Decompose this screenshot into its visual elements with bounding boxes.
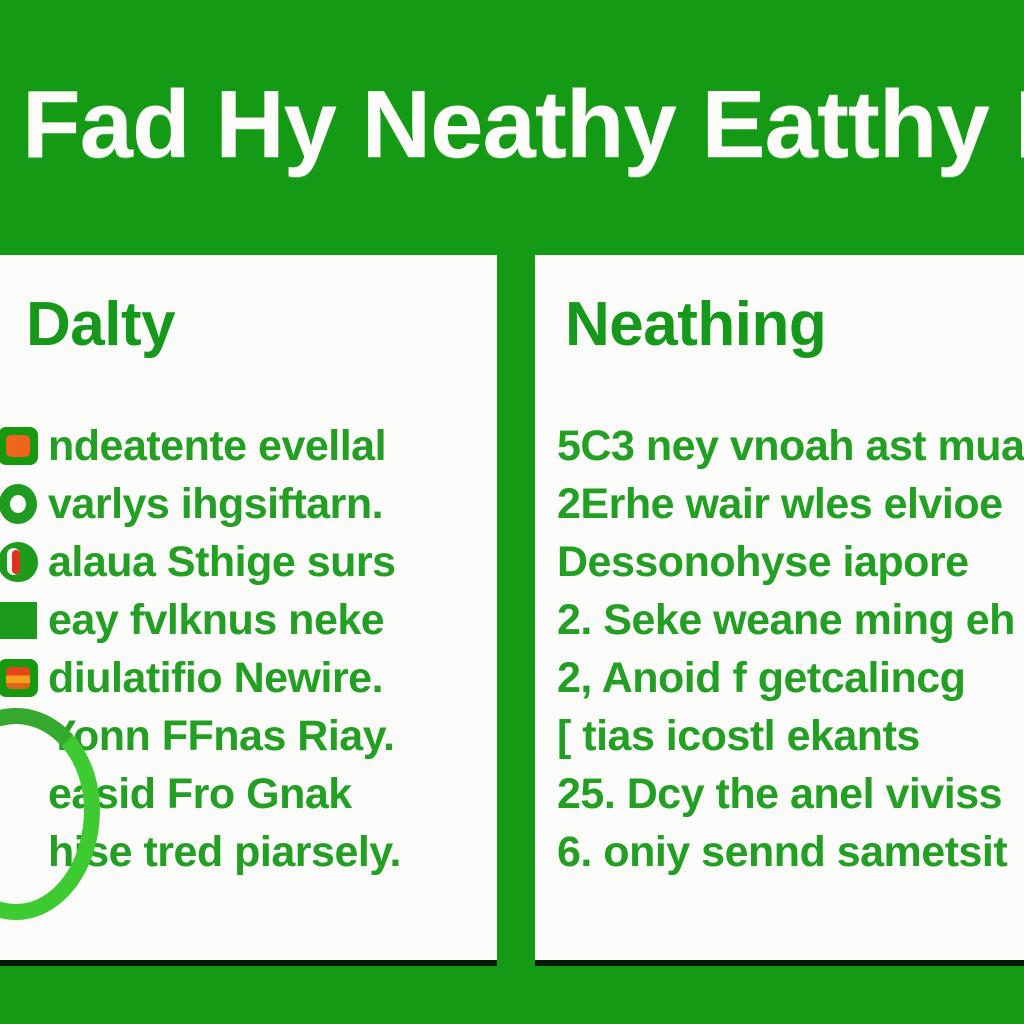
list-item[interactable]: varlys ihgsiftarn. xyxy=(0,475,497,533)
list-item-label: Yonn FFnas Riay. xyxy=(48,713,394,759)
list-item[interactable]: [ tias icostl ekants xyxy=(535,707,1024,765)
bullet-placeholder-icon xyxy=(0,715,40,757)
green-ring-icon xyxy=(0,483,40,525)
poster-root: Fad Hy Neathy Eatthy Feas Dalty ndeatent… xyxy=(0,0,1024,1024)
list-item-label: Dessonohyse iapore xyxy=(557,539,969,585)
list-item-label: easid Fro Gnak xyxy=(48,771,352,817)
list-item-label: [ tias icostl ekants xyxy=(557,713,920,759)
list-item[interactable]: Yonn FFnas Riay. xyxy=(0,707,497,765)
list-item-label: 2. Seke weane ming eh xyxy=(557,597,1015,643)
header-banner: Fad Hy Neathy Eatthy Feas xyxy=(0,0,1024,255)
bullet-placeholder-icon xyxy=(0,773,40,815)
right-panel-heading: Neathing xyxy=(565,290,826,360)
right-panel: Neathing 5C3 ney vnoah ast mual 2Erhe wa… xyxy=(535,255,1024,960)
list-item[interactable]: hise tred piarsely. xyxy=(0,823,497,881)
list-item[interactable]: 2, Anoid f getcalincg xyxy=(535,649,1024,707)
left-panel-list: ndeatente evellal varlys ihgsiftarn. ala… xyxy=(0,417,497,881)
list-item-label: ndeatente evellal xyxy=(48,423,386,469)
list-item[interactable]: diulatifio Newire. xyxy=(0,649,497,707)
orange-chip-icon xyxy=(0,425,40,467)
left-panel-heading: Dalty xyxy=(26,290,175,360)
striped-chip-icon xyxy=(0,657,40,699)
list-item-label: diulatifio Newire. xyxy=(48,655,383,701)
left-panel: Dalty ndeatente evellal varlys ihgsiftar… xyxy=(0,255,497,960)
green-square-icon xyxy=(0,599,40,641)
list-item[interactable]: 2. Seke weane ming eh xyxy=(535,591,1024,649)
list-item-label: eay fvlknus neke xyxy=(48,597,384,643)
list-item[interactable]: easid Fro Gnak xyxy=(0,765,497,823)
list-item-label: hise tred piarsely. xyxy=(48,829,401,875)
list-item-label: alaua Sthige surs xyxy=(48,539,396,585)
list-item[interactable]: 25. Dcy the anel viviss xyxy=(535,765,1024,823)
list-item-label: varlys ihgsiftarn. xyxy=(48,481,383,527)
list-item[interactable]: 6. oniy sennd sametsit xyxy=(535,823,1024,881)
list-item-label: 25. Dcy the anel viviss xyxy=(557,771,1002,817)
list-item[interactable]: 5C3 ney vnoah ast mual xyxy=(535,417,1024,475)
right-panel-list: 5C3 ney vnoah ast mual 2Erhe wair wles e… xyxy=(535,417,1024,881)
list-item-label: 2Erhe wair wles elvioe xyxy=(557,481,1003,527)
list-item-label: 6. oniy sennd sametsit xyxy=(557,829,1007,875)
list-item[interactable]: 2Erhe wair wles elvioe xyxy=(535,475,1024,533)
page-title: Fad Hy Neathy Eatthy Feas xyxy=(22,70,1024,180)
list-item[interactable]: ndeatente evellal xyxy=(0,417,497,475)
apple-icon xyxy=(0,541,40,583)
list-item[interactable]: Dessonohyse iapore xyxy=(535,533,1024,591)
bullet-placeholder-icon xyxy=(0,831,40,873)
list-item[interactable]: eay fvlknus neke xyxy=(0,591,497,649)
list-item-label: 5C3 ney vnoah ast mual xyxy=(557,423,1024,469)
list-item-label: 2, Anoid f getcalincg xyxy=(557,655,965,701)
list-item[interactable]: alaua Sthige surs xyxy=(0,533,497,591)
